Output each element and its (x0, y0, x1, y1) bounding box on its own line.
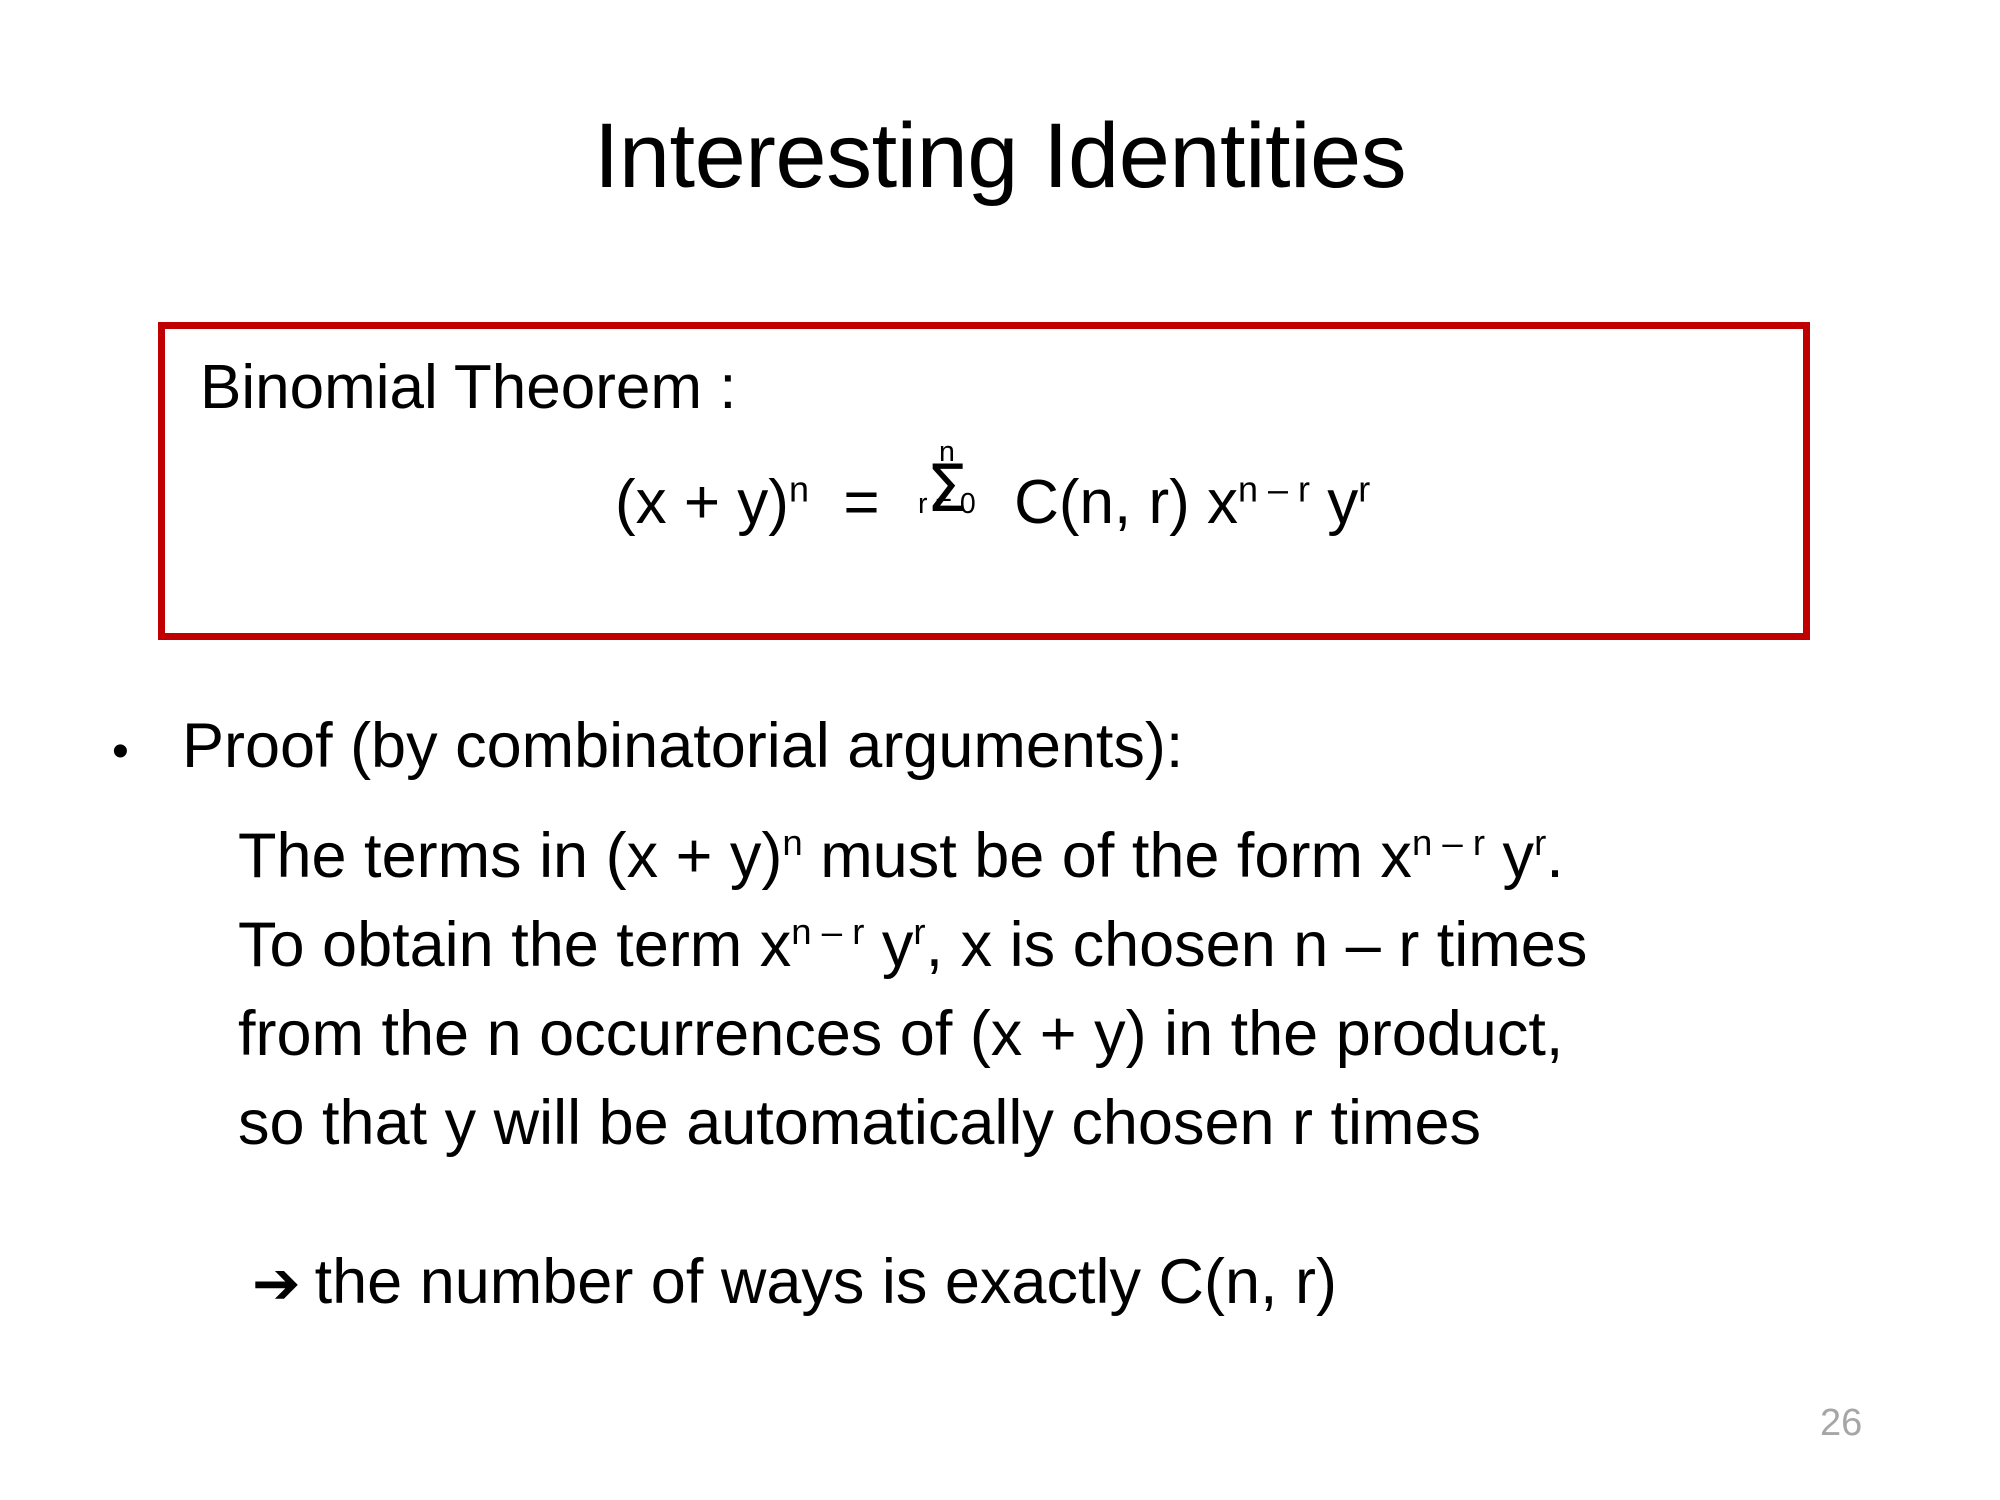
formula-lhs: (x + y) (615, 468, 789, 537)
formula-lhs-exponent: n (789, 468, 809, 509)
proof-conclusion-row: ➔the number of ways is exactly C(n, r) (252, 1248, 1337, 1316)
proof-conclusion-text: the number of ways is exactly C(n, r) (315, 1247, 1337, 1317)
formula-x-base: x (1207, 468, 1238, 537)
summation-lower-limit: r = 0 (897, 490, 997, 519)
text-run: from the n occurrences of (x + y) in the… (238, 999, 1563, 1069)
page-number: 26 (1820, 1404, 1940, 1442)
exponent: n – r (791, 911, 864, 952)
bullet-icon: • (112, 726, 182, 778)
exponent: r (913, 911, 925, 952)
proof-line: so that y will be automatically chosen r… (238, 1079, 1958, 1168)
binomial-theorem-formula: (x + y)n = n Σ r = 0 C(n, r) xn – r yr (615, 461, 1370, 534)
binomial-theorem-box: Binomial Theorem : (x + y)n = n Σ r = 0 … (158, 322, 1810, 640)
proof-line: To obtain the term xn – r yr, x is chose… (238, 901, 1958, 990)
proof-line: from the n occurrences of (x + y) in the… (238, 990, 1958, 1079)
text-run: y (1485, 821, 1534, 891)
exponent: r (1534, 822, 1546, 863)
text-run: , x is chosen n – r times (926, 910, 1588, 980)
text-run: The terms in (x + y) (238, 821, 782, 891)
formula-coefficient: C(n, r) (1014, 468, 1190, 537)
proof-body: The terms in (x + y)n must be of the for… (238, 812, 1958, 1168)
formula-y-exponent: r (1358, 468, 1370, 509)
right-arrow-icon: ➔ (252, 1249, 315, 1317)
formula-equals-sign: = (843, 468, 879, 537)
summation-operator: n Σ r = 0 (897, 461, 997, 523)
proof-heading-row: •Proof (by combinatorial arguments): (112, 712, 1812, 780)
proof-heading: Proof (by combinatorial arguments): (182, 711, 1183, 781)
formula-y-base: y (1327, 468, 1358, 537)
text-run: so that y will be automatically chosen r… (238, 1088, 1481, 1158)
text-run: To obtain the term x (238, 910, 791, 980)
slide-canvas: Interesting Identities Binomial Theorem … (0, 0, 2000, 1500)
text-run: y (864, 910, 913, 980)
proof-line: The terms in (x + y)n must be of the for… (238, 812, 1958, 901)
text-run: must be of the form x (803, 821, 1412, 891)
page-title: Interesting Identities (0, 110, 2000, 202)
theorem-label: Binomial Theorem : (200, 355, 736, 420)
text-run: . (1546, 821, 1564, 891)
exponent: n (782, 822, 802, 863)
exponent: n – r (1412, 822, 1485, 863)
formula-x-exponent: n – r (1238, 468, 1310, 509)
